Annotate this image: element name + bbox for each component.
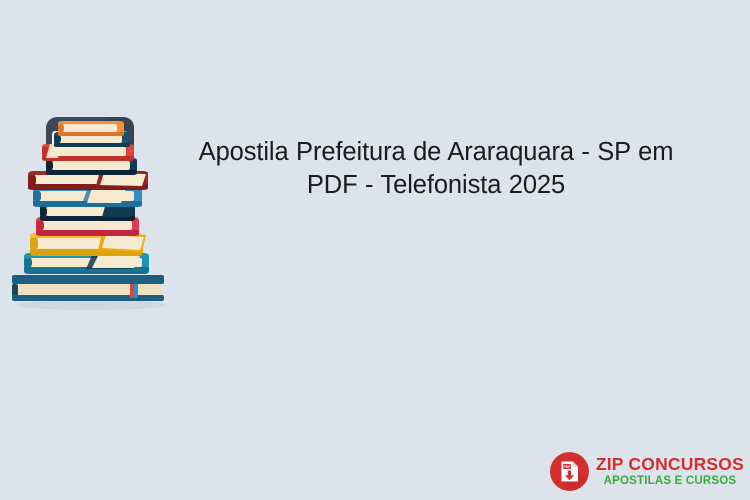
book-teal-base [24, 253, 149, 274]
product-banner: Apostila Prefeitura de Araraquara - SP e… [0, 0, 750, 500]
svg-text:PDF: PDF [563, 465, 571, 469]
book-bottom-base [12, 275, 164, 301]
brand-name: ZIP CONCURSOS [596, 456, 744, 474]
stack-of-books-with-tablet-illustration [6, 115, 176, 315]
page-title: Apostila Prefeitura de Araraquara - SP e… [172, 136, 700, 202]
pdf-download-badge-icon: PDF [550, 452, 589, 491]
brand-tagline: APOSTILAS E CURSOS [596, 476, 744, 488]
page-title-container: Apostila Prefeitura de Araraquara - SP e… [172, 136, 700, 202]
brand-logo[interactable]: PDF ZIP CONCURSOS APOSTILAS E CURSOS [550, 452, 744, 491]
book-yellow [30, 233, 146, 256]
brand-text-block: ZIP CONCURSOS APOSTILAS E CURSOS [596, 456, 744, 488]
book-orange-top [58, 121, 124, 136]
ground-shadow [17, 300, 165, 310]
